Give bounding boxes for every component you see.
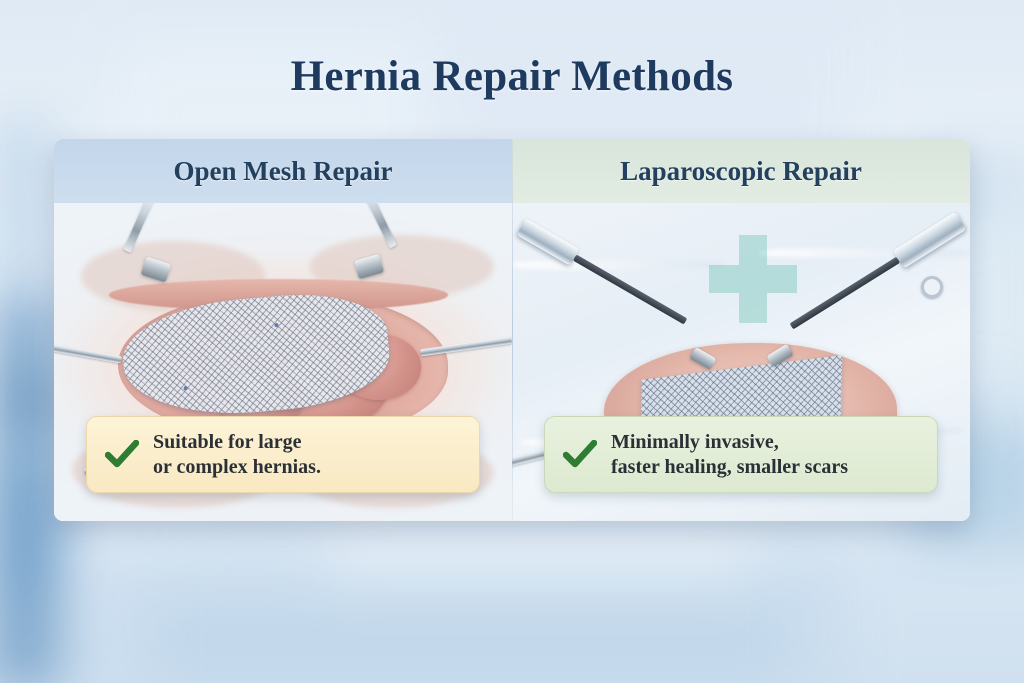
- panel-header-laparoscopic: Laparoscopic Repair: [512, 139, 970, 203]
- laparoscopic-repair-illustration: Minimally invasive, faster healing, smal…: [512, 203, 970, 521]
- instrument-ring-handle: [921, 276, 943, 298]
- panel-laparoscopic: Laparoscopic Repair: [512, 139, 970, 521]
- callout-text-open-mesh: Suitable for large or complex hernias.: [153, 430, 321, 479]
- callout-text-laparoscopic: Minimally invasive, faster healing, smal…: [611, 430, 848, 479]
- comparison-card: Open Mesh Repair: [54, 139, 970, 521]
- panel-open-mesh: Open Mesh Repair: [54, 139, 512, 521]
- callout-line-2: faster healing, smaller scars: [611, 455, 848, 479]
- callout-open-mesh: Suitable for large or complex hernias.: [86, 416, 480, 493]
- callout-line-2: or complex hernias.: [153, 455, 321, 479]
- panel-divider: [512, 139, 513, 521]
- panel-header-open-mesh: Open Mesh Repair: [54, 139, 512, 203]
- infographic-stage: Hernia Repair Methods Open Mesh Repair: [0, 0, 1024, 683]
- callout-line-1: Suitable for large: [153, 430, 321, 454]
- callout-line-1: Minimally invasive,: [611, 430, 848, 454]
- callout-laparoscopic: Minimally invasive, faster healing, smal…: [544, 416, 938, 493]
- open-mesh-repair-illustration: Suitable for large or complex hernias.: [54, 203, 512, 521]
- check-icon: [105, 440, 139, 470]
- medical-cross-watermark: [709, 235, 797, 323]
- page-title: Hernia Repair Methods: [0, 52, 1024, 101]
- check-icon: [563, 440, 597, 470]
